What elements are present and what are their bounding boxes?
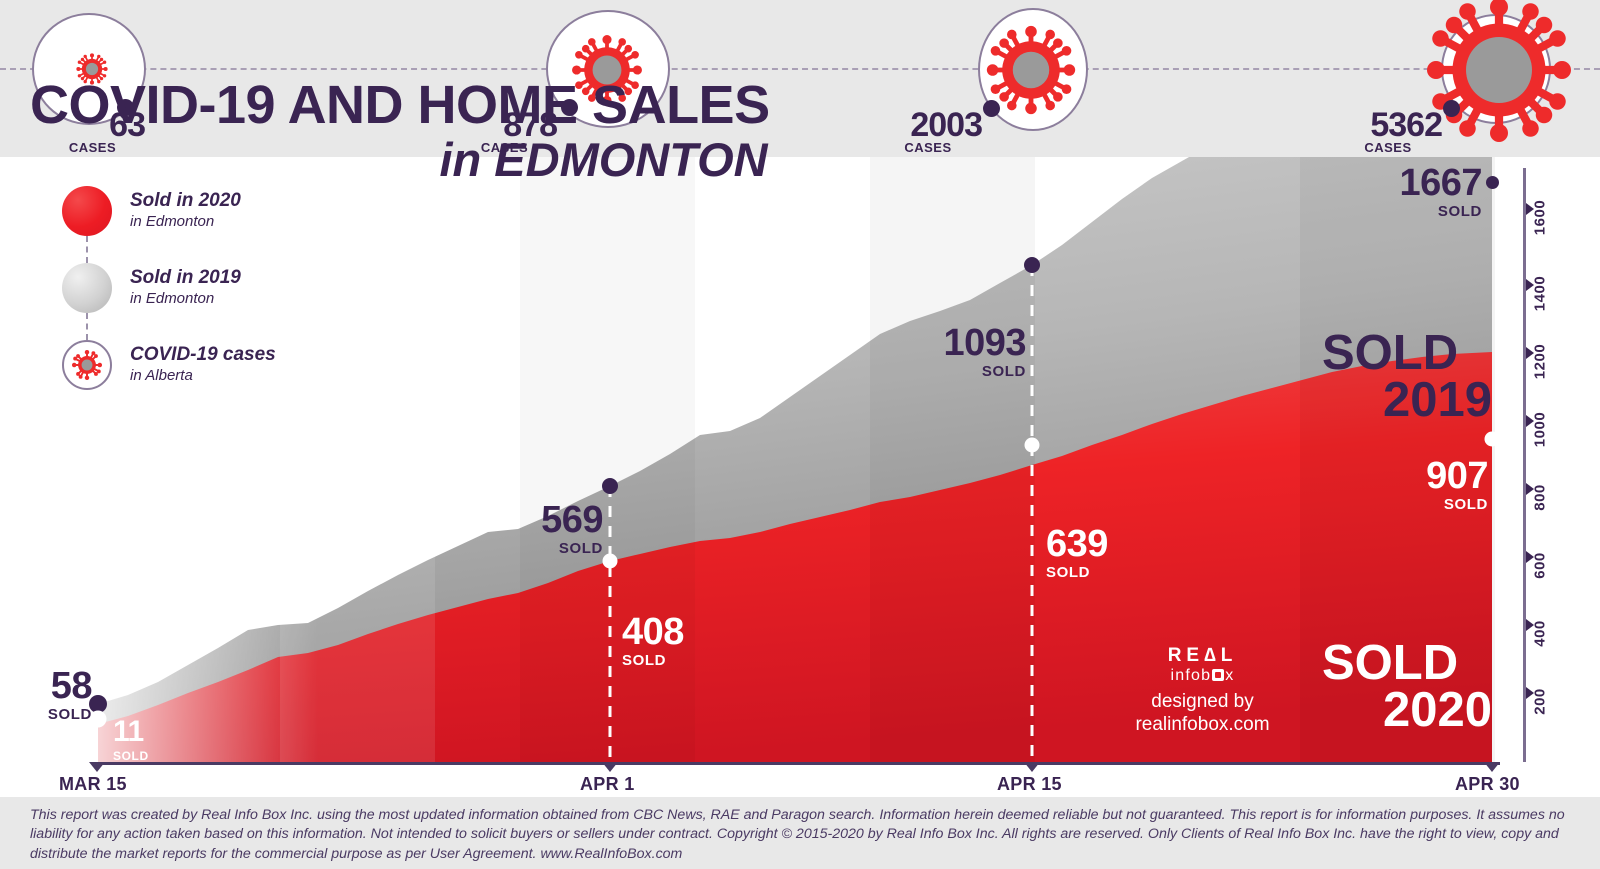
- x-axis-label-mar15: MAR 15: [59, 774, 127, 795]
- callout-2019-mar15: 58 SOLD: [14, 668, 92, 722]
- callout-2020-apr1: 408 SOLD: [622, 614, 684, 668]
- watermark-line-1: SOLD: [1322, 640, 1492, 687]
- y-axis-label-800: 800: [1532, 484, 1549, 511]
- legend-sub-covid-cases: in Alberta: [130, 367, 276, 385]
- timeline-dot-4: [1443, 100, 1460, 117]
- legend-label-sold-2020: Sold in 2020: [130, 190, 241, 212]
- watermark-sold-2020: SOLD 2020: [1322, 640, 1492, 734]
- brand-real-text: RE∆L: [1100, 646, 1305, 665]
- y-axis-label-1000: 1000: [1532, 412, 1549, 447]
- x-tick-mar15: [89, 762, 105, 772]
- timeline-dot-3: [983, 100, 1000, 117]
- y-axis-label-400: 400: [1532, 620, 1549, 647]
- grey-circle-icon: [62, 263, 112, 313]
- callout-label: SOLD: [1378, 497, 1488, 512]
- callout-value: 639: [1046, 526, 1108, 562]
- footer-disclaimer: This report was created by Real Info Box…: [0, 797, 1600, 869]
- watermark-sold-2019: SOLD 2019: [1322, 330, 1492, 424]
- y-axis-label-1600: 1600: [1532, 200, 1549, 235]
- x-axis-label-apr1: APR 1: [580, 774, 635, 795]
- y-axis-label-600: 600: [1532, 552, 1549, 579]
- marker-2019-apr1: [602, 478, 618, 494]
- callout-value: 1093: [904, 325, 1026, 361]
- callout-2019-apr30: 1667 SOLD: [1362, 165, 1482, 219]
- callout-2020-apr15: 639 SOLD: [1046, 526, 1108, 580]
- callout-2020-mar15: 11 SOLD: [113, 718, 149, 762]
- callout-value: 1667: [1362, 165, 1482, 201]
- marker-2020-apr1: [603, 554, 618, 569]
- marker-2020-apr30: [1485, 432, 1500, 447]
- covid-cases-value-3: 2003: [874, 108, 982, 142]
- legend-label-sold-2019: Sold in 2019: [130, 267, 241, 289]
- box-icon: [1212, 669, 1224, 681]
- marker-2020-apr15: [1025, 438, 1040, 453]
- coronavirus-icon: [1424, 0, 1574, 145]
- y-axis-label-200: 200: [1532, 688, 1549, 715]
- marker-2019-apr15: [1024, 257, 1040, 273]
- infographic-root: 63 CASES: [0, 0, 1600, 869]
- callout-label: SOLD: [904, 364, 1026, 379]
- brand-infobox-post: x: [1225, 667, 1234, 684]
- x-tick-apr30: [1484, 762, 1500, 772]
- x-axis-line: [97, 762, 1500, 765]
- red-circle-icon: [62, 186, 112, 236]
- x-tick-apr1: [602, 762, 618, 772]
- marker-2019-apr30-dot: [1486, 176, 1499, 189]
- title-main-text: COVID-19 AND HOME SALES: [30, 78, 770, 133]
- watermark-line-1: SOLD: [1322, 330, 1492, 377]
- brand-infobox-pre: infob: [1171, 667, 1212, 684]
- callout-2020-apr30: 907 SOLD: [1378, 458, 1488, 512]
- watermark-line-2: 2019: [1322, 377, 1492, 424]
- covid-cases-label-4: CASES: [1334, 141, 1442, 154]
- marker-2020-mar15: [90, 711, 107, 728]
- legend-connector: [86, 313, 88, 340]
- callout-label: SOLD: [622, 653, 684, 668]
- callout-value: 408: [622, 614, 684, 650]
- legend-sub-sold-2019: in Edmonton: [130, 290, 241, 308]
- legend-sub-sold-2020: in Edmonton: [130, 213, 241, 231]
- x-axis-label-apr30: APR 30: [1455, 774, 1520, 795]
- callout-value: 11: [113, 718, 149, 747]
- covid-cases-label-3: CASES: [874, 141, 982, 154]
- callout-value: 907: [1378, 458, 1488, 494]
- timeline-dashed-line: [0, 68, 1600, 70]
- brand-block[interactable]: RE∆L infobx designed by realinfobox.com: [1100, 646, 1305, 736]
- brand-infobox-text: infobx: [1100, 668, 1305, 684]
- footer-text: This report was created by Real Info Box…: [0, 797, 1600, 864]
- callout-label: SOLD: [1046, 565, 1108, 580]
- y-axis-line: [1523, 168, 1526, 762]
- callout-label: SOLD: [113, 750, 149, 762]
- title-sub-text: in EDMONTON: [30, 135, 770, 184]
- brand-designed-by: designed by: [1100, 690, 1305, 713]
- callout-label: SOLD: [479, 541, 603, 556]
- callout-value: 569: [479, 502, 603, 538]
- covid-cases-value-4: 5362: [1334, 108, 1442, 142]
- page-title: COVID-19 AND HOME SALES in EDMONTON: [30, 78, 770, 184]
- callout-label: SOLD: [14, 707, 92, 722]
- y-axis-label-1200: 1200: [1532, 344, 1549, 379]
- watermark-line-2: 2020: [1322, 687, 1492, 734]
- x-axis-label-apr15: APR 15: [997, 774, 1062, 795]
- callout-value: 58: [14, 668, 92, 704]
- legend-connector: [86, 236, 88, 263]
- legend-label-covid-cases: COVID-19 cases: [130, 344, 276, 366]
- callout-label: SOLD: [1362, 204, 1482, 219]
- callout-2019-apr15: 1093 SOLD: [904, 325, 1026, 379]
- coronavirus-icon: [71, 349, 103, 381]
- y-axis-label-1400: 1400: [1532, 276, 1549, 311]
- x-tick-apr15: [1024, 762, 1040, 772]
- callout-2019-apr1: 569 SOLD: [479, 502, 603, 556]
- brand-website[interactable]: realinfobox.com: [1100, 713, 1305, 736]
